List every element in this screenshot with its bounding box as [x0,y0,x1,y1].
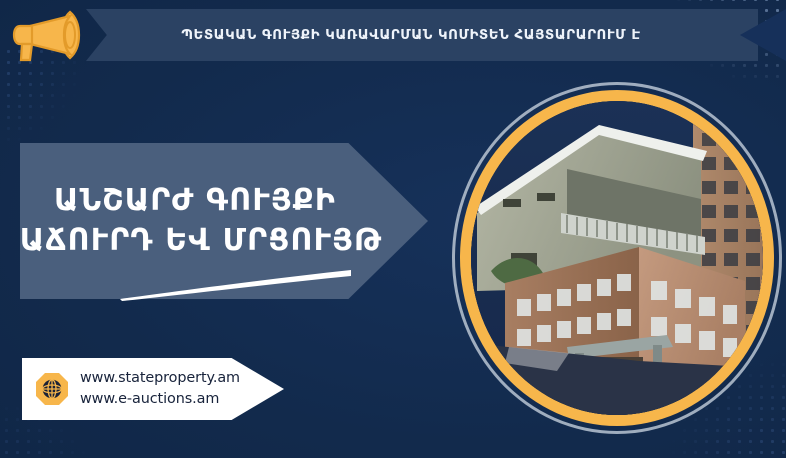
website-url-list: www.stateproperty.am www.e-auctions.am [80,368,240,410]
headline-panel: ԱՆՇԱՐԺ ԳՈՒՅՔԻ ԱՃՈՒՐԴ ԵՎ ՄՐՑՈՒՅԹ [20,143,428,299]
announcement-banner-text: ՊԵՏԱԿԱՆ ԳՈՒՅՔԻ ԿԱՌԱՎԱՐՄԱՆ ԿՈՄԻՏԵՆ ՀԱՅՏԱՐ… [163,28,680,43]
website-box[interactable]: www.stateproperty.am www.e-auctions.am [22,358,284,420]
photo-medallion [452,82,782,434]
headline-line-1: ԱՆՇԱՐԺ ԳՈՒՅՔԻ [54,181,336,221]
megaphone-icon [8,4,88,66]
building-photograph [471,101,763,415]
website-url-primary[interactable]: www.stateproperty.am [80,368,240,389]
photo-clip [471,101,763,415]
headline-line-2: ԱՃՈՒՐԴ ԵՎ ՄՐՑՈՒՅԹ [20,221,383,261]
globe-icon [35,372,69,406]
announcement-banner: ՊԵՏԱԿԱՆ ԳՈՒՅՔԻ ԿԱՌԱՎԱՐՄԱՆ ԿՈՄԻՏԵՆ ՀԱՅՏԱՐ… [86,9,758,61]
poster-canvas: ՊԵՏԱԿԱՆ ԳՈՒՅՔԻ ԿԱՌԱՎԱՐՄԱՆ ԿՈՄԻՏԵՆ ՀԱՅՏԱՐ… [0,0,786,458]
website-url-secondary[interactable]: www.e-auctions.am [80,389,240,410]
